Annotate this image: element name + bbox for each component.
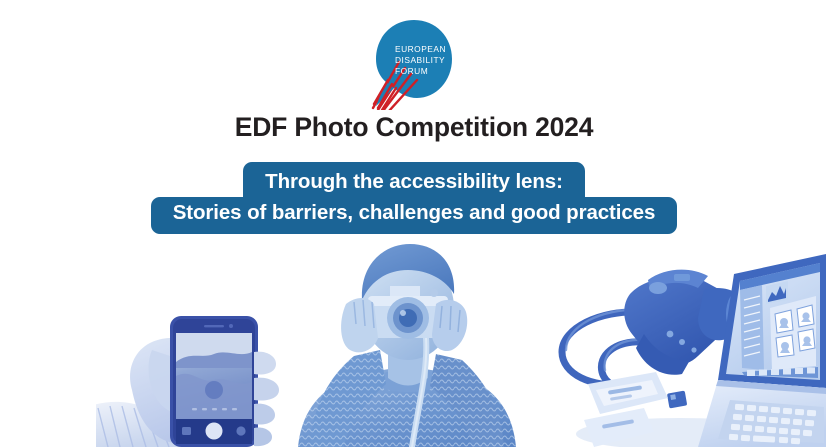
european-disability-forum-logo: EUROPEAN DISABILITY FORUM [364, 18, 464, 110]
logo-block: EUROPEAN DISABILITY FORUM [0, 18, 828, 110]
laptop-keyboard[interactable] [718, 400, 824, 444]
camera-shutter-button[interactable] [430, 289, 438, 297]
viewfinder-highlight [205, 381, 223, 399]
person-with-camera-photo [286, 238, 552, 447]
camera-lens-reflection [400, 310, 406, 316]
app-thumbnail-grid[interactable] [770, 296, 816, 370]
dslr-hot-shoe [674, 274, 690, 281]
logo-line-2: DISABILITY [395, 55, 445, 65]
camera-prism [390, 286, 420, 296]
photo-strip [0, 238, 828, 447]
logo-line-1: EUROPEAN [395, 44, 446, 54]
phone-speaker [204, 325, 224, 327]
front-camera-lens [229, 324, 233, 328]
camera-and-laptop-photo [548, 238, 828, 447]
dslr-mode-dial[interactable] [649, 282, 667, 294]
shutter-button[interactable] [206, 423, 223, 440]
memory-card [667, 391, 687, 409]
page-title: EDF Photo Competition 2024 [0, 110, 828, 144]
gallery-thumbnail-button[interactable] [182, 427, 191, 435]
tagline-line-2: Stories of barriers, challenges and good… [151, 197, 678, 234]
edf-photo-competition-poster: EUROPEAN DISABILITY FORUM EDF Photo Comp… [0, 0, 828, 447]
tagline-banner: Through the accessibility lens: Stories … [0, 162, 828, 234]
hand-holding-smartphone-photo [96, 238, 310, 447]
tagline-line-1: Through the accessibility lens: [243, 162, 585, 198]
memory-card-notch [670, 394, 676, 400]
lens-cleaning-packet [588, 372, 668, 414]
fingers-group [254, 352, 279, 447]
logo-line-3: FORUM [395, 66, 428, 76]
flip-camera-button[interactable] [236, 426, 245, 435]
